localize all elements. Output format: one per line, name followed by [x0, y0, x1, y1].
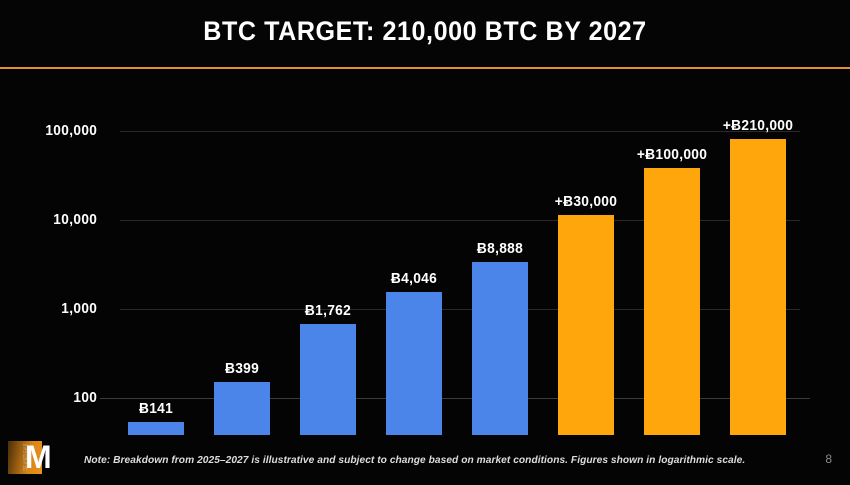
- bar-value-label: Ƀ4,046: [391, 271, 437, 287]
- bar-value-label: Ƀ399: [225, 361, 259, 377]
- company-logo: METAPLANETMETAPLANET M: [8, 441, 62, 479]
- slide-header: BTC TARGET: 210,000 BTC BY 2027: [0, 0, 850, 68]
- bar-value-label: +Ƀ100,000: [637, 147, 707, 163]
- bar-column[interactable]: Ƀ8,888Q2 25: [457, 107, 543, 435]
- bar[interactable]: [128, 422, 184, 435]
- y-axis-tick-label: 100,000: [11, 123, 97, 139]
- slide-root: BTC TARGET: 210,000 BTC BY 2027 100,0001…: [0, 0, 850, 485]
- bar-chart: 100,00010,0001,000100 Ƀ141Q2 24Ƀ399Q3 24…: [0, 70, 850, 435]
- bar[interactable]: [472, 262, 528, 435]
- header-divider: [0, 67, 850, 69]
- bar-column[interactable]: Ƀ399Q3 24: [199, 107, 285, 435]
- bar-column[interactable]: +Ƀ30,000FY25Target: [543, 107, 629, 435]
- y-axis-tick-label: 1,000: [11, 301, 97, 317]
- bar-value-label: Ƀ141: [139, 401, 173, 417]
- footnote: Note: Breakdown from 2025–2027 is illust…: [84, 454, 745, 466]
- bar-value-label: Ƀ1,762: [305, 303, 351, 319]
- logo-letter-m: M: [25, 441, 51, 473]
- bar[interactable]: [558, 215, 614, 435]
- page-title: BTC TARGET: 210,000 BTC BY 2027: [30, 16, 821, 47]
- bar-column[interactable]: Ƀ1,762Q4 24: [285, 107, 371, 435]
- y-axis-tick-label: 100: [11, 390, 97, 406]
- bar[interactable]: [300, 324, 356, 435]
- slide-footer: Note: Breakdown from 2025–2027 is illust…: [0, 437, 850, 485]
- bar-column[interactable]: Ƀ141Q2 24: [113, 107, 199, 435]
- bar-column[interactable]: +Ƀ100,000FY 26Target: [629, 107, 715, 435]
- bar-value-label: +Ƀ30,000: [555, 194, 617, 210]
- bar-value-label: Ƀ8,888: [477, 241, 523, 257]
- bar-column[interactable]: Ƀ4,046Q1 25: [371, 107, 457, 435]
- page-number: 8: [825, 452, 832, 466]
- y-axis-tick-label: 10,000: [11, 212, 97, 228]
- bar[interactable]: [386, 292, 442, 435]
- bar-value-label: +Ƀ210,000: [723, 118, 793, 134]
- bar[interactable]: [644, 168, 700, 435]
- bar[interactable]: [214, 382, 270, 435]
- bar[interactable]: [730, 139, 786, 435]
- bar-column[interactable]: +Ƀ210,000FY 27Target: [715, 107, 801, 435]
